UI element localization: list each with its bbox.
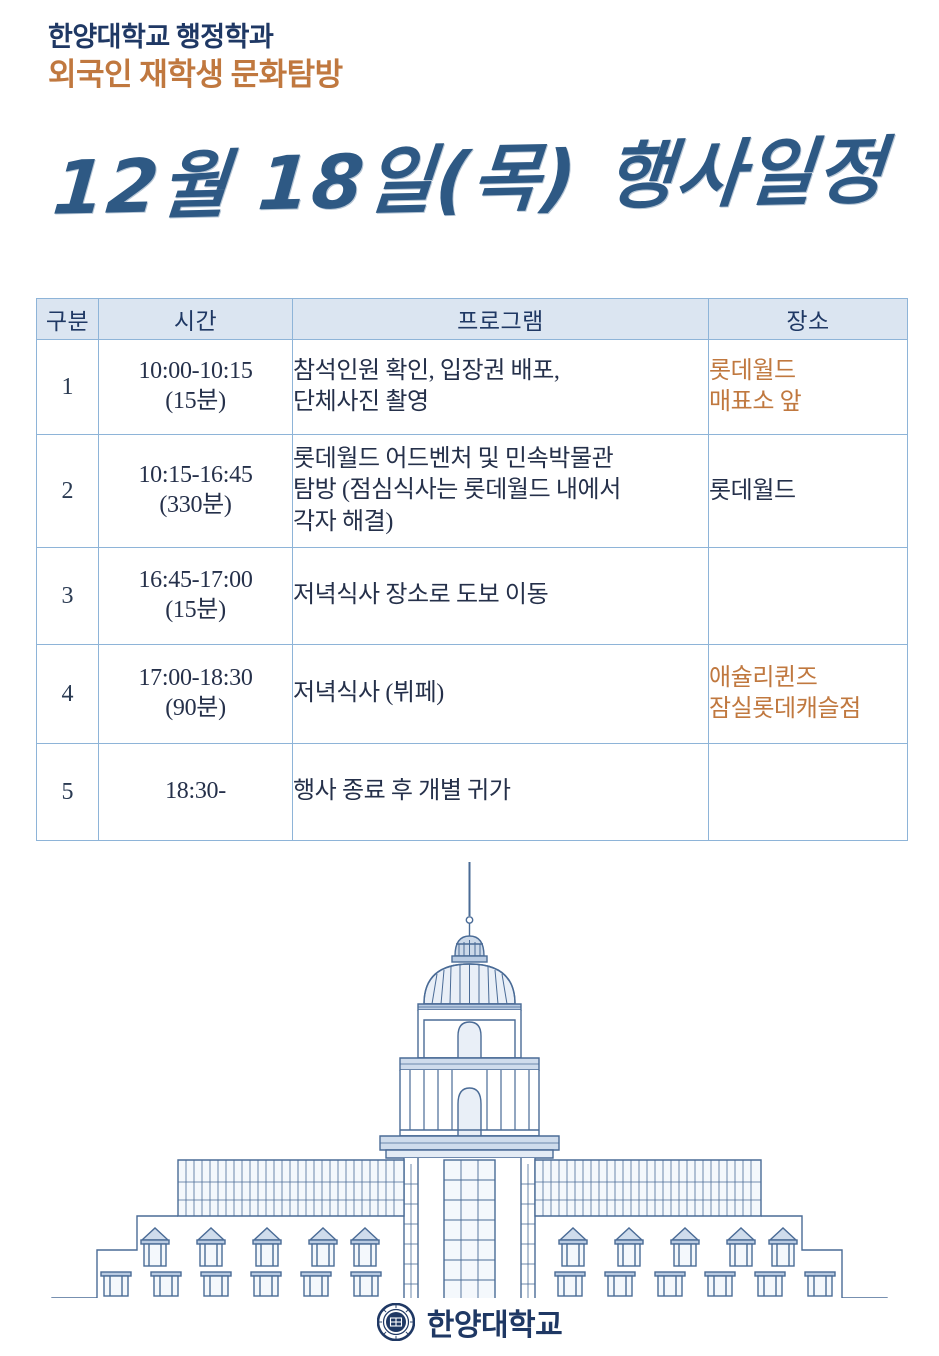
program-line: 행사 종료 후 개별 귀가 (293, 776, 708, 807)
time-range: 17:00-18:30 (99, 664, 292, 694)
time-duration: (15분) (99, 596, 292, 626)
place-line: 잠실롯데캐슬점 (709, 694, 907, 725)
row-place: 애슐리퀸즈 잠실롯데캐슬점 (709, 645, 908, 744)
program-line: 롯데월드 어드벤처 및 민속박물관 (293, 444, 708, 475)
program-line: 저녁식사 장소로 도보 이동 (293, 580, 708, 611)
row-program: 롯데월드 어드벤처 및 민속박물관 탐방 (점심식사는 롯데월드 내에서 각자 … (293, 435, 709, 548)
row-program: 저녁식사 장소로 도보 이동 (293, 548, 709, 645)
column-header-time: 시간 (99, 299, 293, 340)
row-number: 5 (37, 744, 99, 841)
row-time: 18:30- (99, 744, 293, 841)
column-header-place: 장소 (709, 299, 908, 340)
page-title: 12월 18일(목) 행사일정 (50, 134, 890, 225)
place-line: 롯데월드 (709, 476, 907, 507)
row-number: 2 (37, 435, 99, 548)
program-line: 단체사진 촬영 (293, 387, 708, 418)
column-header-no: 구분 (37, 299, 99, 340)
time-range: 10:15-16:45 (99, 461, 292, 491)
poster-header: 한양대학교 행정학과 외국인 재학생 문화탐방 (48, 22, 848, 94)
table-row: 4 17:00-18:30 (90분) 저녁식사 (뷔페) 애슐리퀸즈 잠실롯데… (37, 645, 908, 744)
program-line: 저녁식사 (뷔페) (293, 678, 708, 709)
time-duration: (330분) (99, 491, 292, 521)
place-line: 매표소 앞 (709, 387, 907, 418)
row-program: 참석인원 확인, 입장권 배포, 단체사진 촬영 (293, 340, 709, 435)
program-line: 참석인원 확인, 입장권 배포, (293, 356, 708, 387)
table-row: 2 10:15-16:45 (330분) 롯데월드 어드벤처 및 민속박물관 탐… (37, 435, 908, 548)
row-number: 1 (37, 340, 99, 435)
hanyang-university-emblem-icon (377, 1303, 415, 1341)
time-range: 16:45-17:00 (99, 566, 292, 596)
row-time: 17:00-18:30 (90분) (99, 645, 293, 744)
university-name: 한양대학교 (427, 1300, 563, 1344)
window-row-flat-left (101, 1272, 381, 1296)
program-line: 각자 해결) (293, 507, 708, 538)
row-time: 10:15-16:45 (330분) (99, 435, 293, 548)
university-logo: 한양대학교 (0, 1300, 939, 1344)
row-number: 3 (37, 548, 99, 645)
row-place: 롯데월드 (709, 435, 908, 548)
time-range: 10:00-10:15 (99, 357, 292, 387)
row-place: 롯데월드 매표소 앞 (709, 340, 908, 435)
row-place (709, 744, 908, 841)
window-row-flat-right (555, 1272, 835, 1296)
schedule-table-container: 구분 시간 프로그램 장소 1 10:00-10:15 (15분) 참석인원 확… (36, 298, 907, 841)
table-row: 5 18:30- 행사 종료 후 개별 귀가 (37, 744, 908, 841)
hanyang-main-building-illustration (0, 858, 939, 1298)
time-duration: (90분) (99, 694, 292, 724)
place-line: 애슐리퀸즈 (709, 663, 907, 694)
place-line: 롯데월드 (709, 356, 907, 387)
window-row-pediment-left (141, 1228, 379, 1266)
table-row: 3 16:45-17:00 (15분) 저녁식사 장소로 도보 이동 (37, 548, 908, 645)
table-row: 1 10:00-10:15 (15분) 참석인원 확인, 입장권 배포, 단체사… (37, 340, 908, 435)
main-title-container: 12월 18일(목) 행사일정 (0, 143, 939, 217)
row-time: 10:00-10:15 (15분) (99, 340, 293, 435)
row-time: 16:45-17:00 (15분) (99, 548, 293, 645)
time-duration: (15분) (99, 387, 292, 417)
row-place (709, 548, 908, 645)
program-line: 탐방 (점심식사는 롯데월드 내에서 (293, 475, 708, 506)
window-row-pediment-right (559, 1228, 797, 1266)
event-title: 외국인 재학생 문화탐방 (48, 56, 848, 94)
row-program: 행사 종료 후 개별 귀가 (293, 744, 709, 841)
row-number: 4 (37, 645, 99, 744)
schedule-table: 구분 시간 프로그램 장소 1 10:00-10:15 (15분) 참석인원 확… (36, 298, 908, 841)
department-title: 한양대학교 행정학과 (48, 22, 848, 54)
time-range: 18:30- (99, 777, 292, 807)
row-program: 저녁식사 (뷔페) (293, 645, 709, 744)
table-header-row: 구분 시간 프로그램 장소 (37, 299, 908, 340)
column-header-program: 프로그램 (293, 299, 709, 340)
